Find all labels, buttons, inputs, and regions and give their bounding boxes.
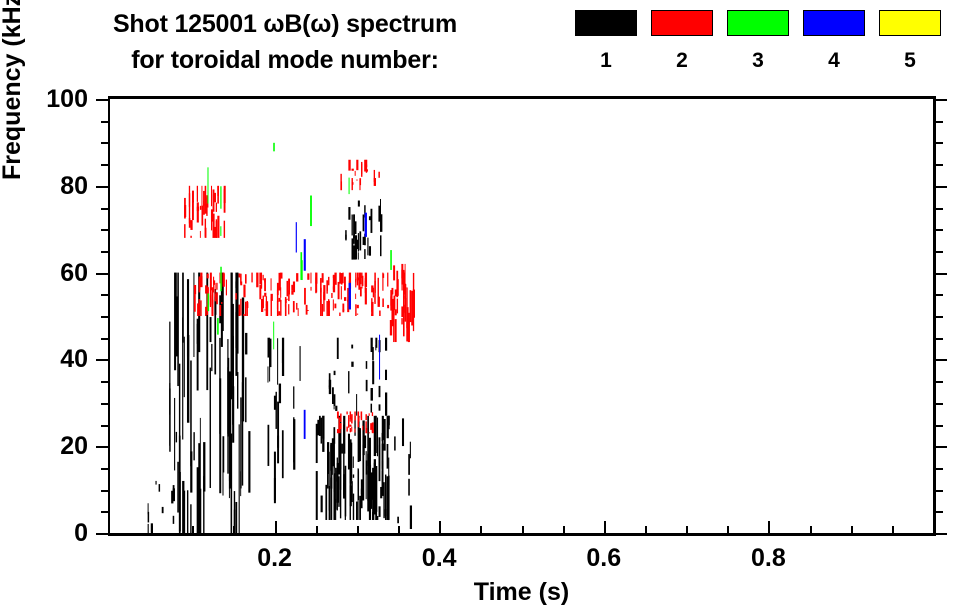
- y-tick-minor: [101, 403, 108, 405]
- y-tick-minor: [101, 208, 108, 210]
- y-tick-minor: [935, 490, 943, 492]
- y-tick-label: 40: [0, 347, 88, 372]
- y-tick-minor: [101, 381, 108, 383]
- x-tick-label: 0.2: [235, 546, 315, 571]
- y-tick-minor: [935, 316, 943, 318]
- x-tick-label: 0.6: [564, 546, 644, 571]
- y-tick-major: [96, 446, 108, 448]
- y-tick-major: [96, 359, 108, 361]
- x-tick-minor: [316, 526, 318, 533]
- legend-swatch-5: [879, 10, 941, 36]
- y-tick-minor: [935, 338, 943, 340]
- spectrogram-data: [110, 99, 933, 533]
- legend-label-5: 5: [879, 50, 941, 72]
- legend-label-1: 1: [575, 50, 637, 72]
- x-tick-major: [275, 521, 277, 533]
- y-tick-minor: [935, 208, 943, 210]
- y-tick-major: [935, 186, 947, 188]
- y-tick-minor: [101, 468, 108, 470]
- y-tick-minor: [101, 511, 108, 513]
- y-tick-major: [96, 99, 108, 101]
- x-tick-major: [604, 521, 606, 533]
- y-tick-major: [935, 273, 947, 275]
- y-tick-label: 60: [0, 261, 88, 286]
- x-tick-label: 0.8: [728, 546, 808, 571]
- y-tick-label: 20: [0, 434, 88, 459]
- y-tick-minor: [935, 251, 943, 253]
- y-tick-minor: [101, 121, 108, 123]
- y-tick-minor: [101, 164, 108, 166]
- y-tick-label: 0: [0, 521, 88, 546]
- x-tick-minor: [563, 526, 565, 533]
- chart-title-line2: for toroidal mode number:: [0, 42, 570, 78]
- y-tick-minor: [101, 425, 108, 427]
- legend: 12345: [575, 10, 957, 88]
- y-tick-minor: [935, 121, 943, 123]
- x-tick-minor: [522, 526, 524, 533]
- legend-item-2[interactable]: 2: [651, 10, 713, 72]
- x-tick-minor: [480, 526, 482, 533]
- x-tick-minor: [851, 526, 853, 533]
- y-tick-minor: [101, 251, 108, 253]
- plot-area: 0204060801000.20.40.60.8: [108, 96, 935, 535]
- y-tick-minor: [935, 294, 943, 296]
- legend-label-3: 3: [727, 50, 789, 72]
- y-axis-title: Frequency (kHz): [0, 0, 27, 180]
- x-tick-minor: [398, 526, 400, 533]
- y-tick-major: [935, 446, 947, 448]
- y-tick-minor: [935, 511, 943, 513]
- y-tick-minor: [101, 294, 108, 296]
- legend-swatch-2: [651, 10, 713, 36]
- y-tick-minor: [935, 425, 943, 427]
- x-tick-minor: [192, 526, 194, 533]
- legend-item-3[interactable]: 3: [727, 10, 789, 72]
- chart-title-line1: Shot 125001 ωB(ω) spectrum: [0, 6, 570, 42]
- legend-label-4: 4: [803, 50, 865, 72]
- y-tick-major: [96, 273, 108, 275]
- y-tick-minor: [101, 229, 108, 231]
- y-tick-minor: [101, 338, 108, 340]
- x-tick-minor: [686, 526, 688, 533]
- x-tick-minor: [233, 526, 235, 533]
- x-tick-label: 0.4: [399, 546, 479, 571]
- y-tick-minor: [101, 316, 108, 318]
- x-tick-minor: [357, 526, 359, 533]
- x-tick-major: [768, 521, 770, 533]
- y-tick-minor: [935, 164, 943, 166]
- y-tick-major: [96, 533, 108, 535]
- legend-label-2: 2: [651, 50, 713, 72]
- y-tick-minor: [101, 142, 108, 144]
- x-tick-minor: [727, 526, 729, 533]
- chart-title: Shot 125001 ωB(ω) spectrum for toroidal …: [0, 6, 570, 78]
- x-axis-title: Time (s): [108, 578, 935, 607]
- legend-swatch-1: [575, 10, 637, 36]
- y-tick-minor: [935, 142, 943, 144]
- x-tick-minor: [810, 526, 812, 533]
- y-tick-minor: [101, 490, 108, 492]
- y-tick-major: [96, 186, 108, 188]
- y-tick-minor: [935, 229, 943, 231]
- legend-item-1[interactable]: 1: [575, 10, 637, 72]
- y-tick-minor: [935, 381, 943, 383]
- y-tick-minor: [935, 403, 943, 405]
- legend-item-5[interactable]: 5: [879, 10, 941, 72]
- y-tick-major: [935, 533, 947, 535]
- legend-swatch-3: [727, 10, 789, 36]
- y-tick-major: [935, 99, 947, 101]
- spectrogram-svg: [110, 99, 933, 533]
- legend-item-4[interactable]: 4: [803, 10, 865, 72]
- legend-swatch-4: [803, 10, 865, 36]
- x-tick-minor: [151, 526, 153, 533]
- y-tick-major: [935, 359, 947, 361]
- axis-bottom-spine: [108, 533, 935, 536]
- x-tick-minor: [645, 526, 647, 533]
- x-tick-minor: [892, 526, 894, 533]
- x-tick-major: [439, 521, 441, 533]
- y-tick-minor: [935, 468, 943, 470]
